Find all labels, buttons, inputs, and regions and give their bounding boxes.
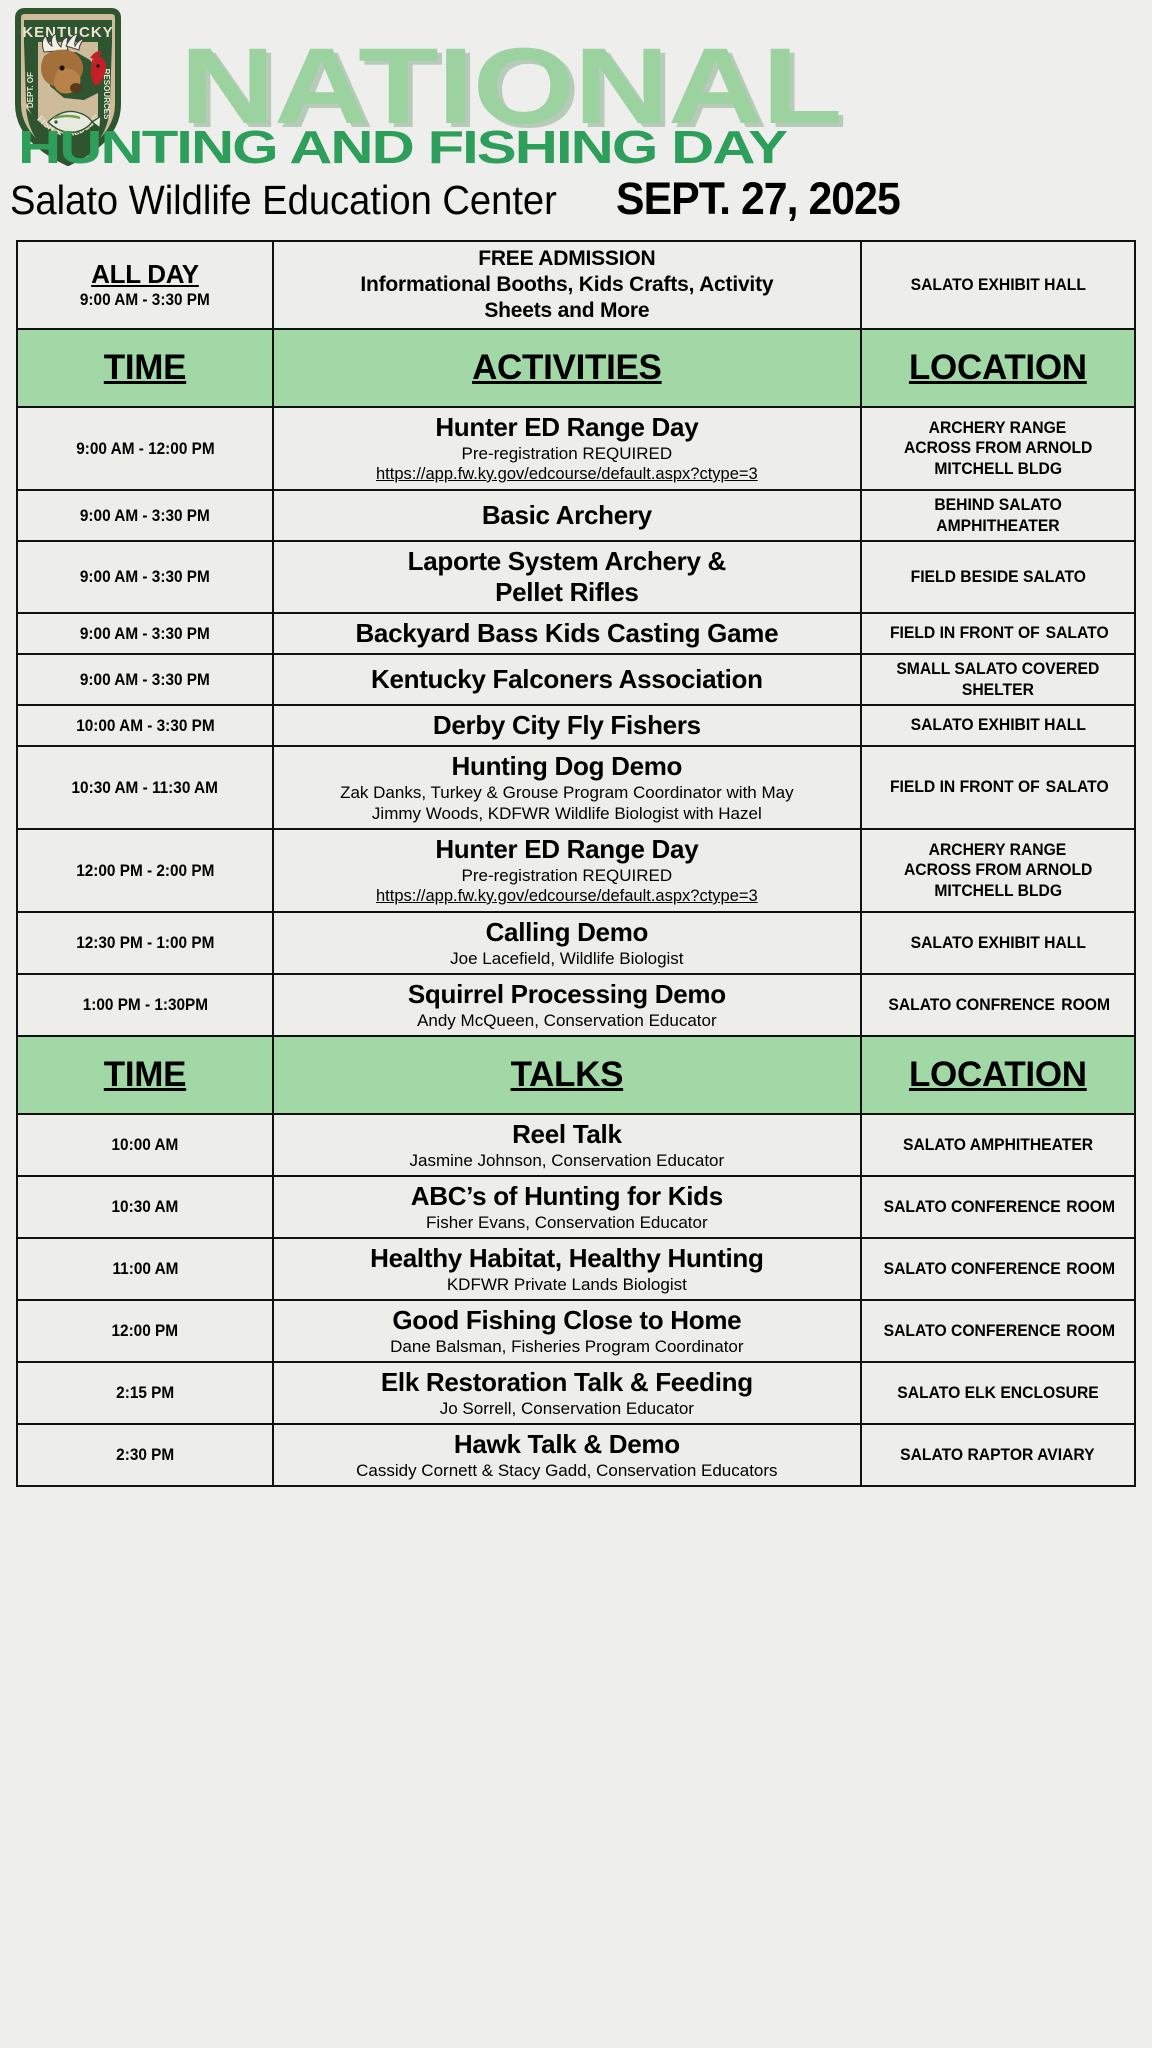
row-time-cell: 12:30 PM - 1:00 PM — [17, 912, 273, 974]
row-location-line: ROOM — [1067, 1259, 1116, 1280]
row-time-cell: 9:00 AM - 12:00 PM — [17, 407, 273, 490]
section-header-main-label: TALKS — [511, 1055, 624, 1094]
row-time: 10:00 AM — [112, 1135, 179, 1155]
row-location-line: ARCHERY RANGE — [929, 418, 1067, 439]
row-location-line: ACROSS FROM ARNOLD — [904, 860, 1092, 881]
row-location-cell: ARCHERY RANGEACROSS FROM ARNOLDMITCHELL … — [861, 407, 1135, 490]
row-time: 9:00 AM - 3:30 PM — [80, 670, 210, 690]
row-activity-cell: Reel TalkJasmine Johnson, Conservation E… — [273, 1114, 861, 1176]
schedule-row: 9:00 AM - 3:30 PMKentucky Falconers Asso… — [17, 654, 1135, 705]
row-location-cell: BEHIND SALATOAMPHITHEATER — [861, 490, 1135, 541]
row-time: 9:00 AM - 3:30 PM — [80, 624, 210, 644]
schedule-row: 9:00 AM - 3:30 PMBackyard Bass Kids Cast… — [17, 613, 1135, 654]
row-location-line: SALATO EXHIBIT HALL — [910, 715, 1085, 736]
row-time: 11:00 AM — [112, 1259, 178, 1279]
row-location-line: AMPHITHEATER — [936, 516, 1059, 537]
row-location-cell: SALATO ELK ENCLOSURE — [861, 1362, 1135, 1424]
section-header-main: ACTIVITIES — [273, 329, 861, 407]
row-time: 12:00 PM — [112, 1321, 179, 1341]
row-time-cell: 9:00 AM - 3:30 PM — [17, 613, 273, 654]
row-location-line: SALATO CONFERENCE — [884, 1321, 1061, 1342]
row-activity-presenter: Dane Balsman, Fisheries Program Coordina… — [280, 1336, 854, 1357]
row-time-cell: 9:00 AM - 3:30 PM — [17, 541, 273, 613]
row-time-cell: 2:15 PM — [17, 1362, 273, 1424]
row-registration-link[interactable]: https://app.fw.ky.gov/edcourse/default.a… — [280, 464, 854, 485]
row-activity-cell: Good Fishing Close to HomeDane Balsman, … — [273, 1300, 861, 1362]
row-activity-cell: Kentucky Falconers Association — [273, 654, 861, 705]
row-location-line: SALATO — [1045, 623, 1108, 644]
row-time-cell: 9:00 AM - 3:30 PM — [17, 490, 273, 541]
row-activity-presenter: Jo Sorrell, Conservation Educator — [280, 1398, 854, 1419]
all-day-location-cell: SALATO EXHIBIT HALL — [861, 241, 1135, 329]
row-activity-title: Hunter ED Range Day — [280, 834, 854, 865]
row-activity-title: Backyard Bass Kids Casting Game — [280, 618, 854, 649]
row-activity-cell: Elk Restoration Talk & FeedingJo Sorrell… — [273, 1362, 861, 1424]
row-location-cell: SMALL SALATO COVEREDSHELTER — [861, 654, 1135, 705]
event-date: SEPT. 27, 2025 — [616, 176, 900, 222]
row-activity-title: Elk Restoration Talk & Feeding — [280, 1367, 854, 1398]
row-activity-title: Reel Talk — [280, 1119, 854, 1150]
schedule-row: 12:30 PM - 1:00 PMCalling DemoJoe Lacefi… — [17, 912, 1135, 974]
row-location-line: FIELD IN FRONT OF — [890, 777, 1040, 798]
row-activity-title: Hunting Dog Demo — [280, 751, 854, 782]
row-time: 10:00 AM - 3:30 PM — [76, 716, 214, 736]
schedule-row: 2:15 PMElk Restoration Talk & FeedingJo … — [17, 1362, 1135, 1424]
row-location-cell: SALATO CONFERENCEROOM — [861, 1176, 1135, 1238]
schedule-row: 10:00 AM - 3:30 PMDerby City Fly Fishers… — [17, 705, 1135, 746]
row-location-cell: SALATO CONFRENCEROOM — [861, 974, 1135, 1036]
row-location-cell: FIELD BESIDE SALATO — [861, 541, 1135, 613]
flyer-header: KENTUCKY DEPT. OF RESOURCES FISH & WILDL… — [0, 0, 1152, 232]
schedule-row: 9:00 AM - 12:00 PMHunter ED Range DayPre… — [17, 407, 1135, 490]
row-location-cell: ARCHERY RANGEACROSS FROM ARNOLDMITCHELL … — [861, 829, 1135, 912]
row-time: 10:30 AM — [112, 1197, 179, 1217]
row-location-cell: SALATO AMPHITHEATER — [861, 1114, 1135, 1176]
row-location-line: BEHIND SALATO — [934, 495, 1061, 516]
schedule-table-body: ALL DAY9:00 AM - 3:30 PMFREE ADMISSIONIn… — [17, 241, 1135, 1486]
section-header-location-label: LOCATION — [909, 348, 1087, 387]
row-location-cell: FIELD IN FRONT OFSALATO — [861, 746, 1135, 829]
all-day-location: SALATO EXHIBIT HALL — [910, 275, 1085, 296]
row-activity-presenter: Joe Lacefield, Wildlife Biologist — [280, 948, 854, 969]
section-header-location-label: LOCATION — [909, 1055, 1087, 1094]
section-header-time: TIME — [17, 329, 273, 407]
all-day-row: ALL DAY9:00 AM - 3:30 PMFREE ADMISSIONIn… — [17, 241, 1135, 329]
row-time-cell: 1:00 PM - 1:30PM — [17, 974, 273, 1036]
row-location-line: ARCHERY RANGE — [929, 840, 1067, 861]
all-day-description-line: Sheets and More — [280, 298, 854, 324]
row-time: 12:30 PM - 1:00 PM — [76, 933, 214, 953]
row-location-line: ROOM — [1061, 995, 1110, 1016]
row-activity-presenter: Andy McQueen, Conservation Educator — [280, 1010, 854, 1031]
row-activity-cell: Calling DemoJoe Lacefield, Wildlife Biol… — [273, 912, 861, 974]
row-time: 10:30 AM - 11:30 AM — [72, 778, 218, 798]
row-location-line: FIELD IN FRONT OF — [890, 623, 1040, 644]
row-activity-title: Derby City Fly Fishers — [280, 710, 854, 741]
row-activity-presenter: Pre-registration REQUIRED — [280, 443, 854, 464]
schedule-row: 11:00 AMHealthy Habitat, Healthy Hunting… — [17, 1238, 1135, 1300]
section-header-location: LOCATION — [861, 1036, 1135, 1114]
row-activity-cell: Basic Archery — [273, 490, 861, 541]
row-activity-presenter: Pre-registration REQUIRED — [280, 865, 854, 886]
row-time: 9:00 AM - 3:30 PM — [80, 506, 210, 526]
row-time: 9:00 AM - 3:30 PM — [80, 567, 210, 587]
row-activity-title: Basic Archery — [280, 500, 854, 531]
row-activity-cell: Hunting Dog DemoZak Danks, Turkey & Grou… — [273, 746, 861, 829]
row-activity-presenter: Jimmy Woods, KDFWR Wildlife Biologist wi… — [280, 803, 854, 824]
row-activity-title: Calling Demo — [280, 917, 854, 948]
section-header-time-label: TIME — [104, 348, 186, 387]
row-time: 2:30 PM — [116, 1445, 174, 1465]
row-location-line: SALATO AMPHITHEATER — [903, 1135, 1093, 1156]
row-time-cell: 11:00 AM — [17, 1238, 273, 1300]
row-activity-title: Kentucky Falconers Association — [280, 664, 854, 695]
row-activity-presenter: Fisher Evans, Conservation Educator — [280, 1212, 854, 1233]
row-time-cell: 2:30 PM — [17, 1424, 273, 1486]
row-activity-title: Healthy Habitat, Healthy Hunting — [280, 1243, 854, 1274]
section-header-row: TIMEACTIVITIESLOCATION — [17, 329, 1135, 407]
row-location-line: SALATO CONFERENCE — [884, 1259, 1061, 1280]
row-location-cell: SALATO RAPTOR AVIARY — [861, 1424, 1135, 1486]
row-activity-cell: Backyard Bass Kids Casting Game — [273, 613, 861, 654]
all-day-description-line: Informational Booths, Kids Crafts, Activ… — [280, 272, 854, 298]
venue-name: Salato Wildlife Education Center — [10, 177, 557, 223]
row-location-line: SALATO ELK ENCLOSURE — [897, 1383, 1098, 1404]
schedule-row: 9:00 AM - 3:30 PMBasic ArcheryBEHIND SAL… — [17, 490, 1135, 541]
schedule-row: 2:30 PMHawk Talk & DemoCassidy Cornett &… — [17, 1424, 1135, 1486]
row-location-line: ROOM — [1067, 1197, 1116, 1218]
row-activity-presenter: Zak Danks, Turkey & Grouse Program Coord… — [280, 782, 854, 803]
row-location-cell: SALATO EXHIBIT HALL — [861, 912, 1135, 974]
row-time-cell: 12:00 PM — [17, 1300, 273, 1362]
row-location-line: SALATO RAPTOR AVIARY — [901, 1445, 1096, 1466]
flyer-page: KENTUCKY DEPT. OF RESOURCES FISH & WILDL… — [0, 0, 1152, 2048]
row-location-line: SHELTER — [962, 680, 1034, 701]
schedule-row: 10:30 AMABC’s of Hunting for KidsFisher … — [17, 1176, 1135, 1238]
row-time-cell: 9:00 AM - 3:30 PM — [17, 654, 273, 705]
row-location-cell: FIELD IN FRONT OFSALATO — [861, 613, 1135, 654]
row-location-line: ROOM — [1067, 1321, 1116, 1342]
section-header-main-label: ACTIVITIES — [472, 348, 662, 387]
venue-and-date-line: Salato Wildlife Education Center SEPT. 2… — [10, 176, 1142, 223]
row-activity-presenter: Cassidy Cornett & Stacy Gadd, Conservati… — [280, 1460, 854, 1481]
row-location-line: SALATO CONFRENCE — [889, 995, 1056, 1016]
section-header-location: LOCATION — [861, 329, 1135, 407]
row-location-line: ACROSS FROM ARNOLD — [904, 438, 1092, 459]
row-activity-cell: Hunter ED Range DayPre-registration REQU… — [273, 407, 861, 490]
row-activity-title: ABC’s of Hunting for Kids — [280, 1181, 854, 1212]
all-day-description-line: FREE ADMISSION — [280, 246, 854, 272]
row-location-line: SALATO — [1045, 777, 1108, 798]
schedule-row: 10:00 AMReel TalkJasmine Johnson, Conser… — [17, 1114, 1135, 1176]
schedule-row: 12:00 PM - 2:00 PMHunter ED Range DayPre… — [17, 829, 1135, 912]
row-activity-cell: Healthy Habitat, Healthy HuntingKDFWR Pr… — [273, 1238, 861, 1300]
schedule-table: ALL DAY9:00 AM - 3:30 PMFREE ADMISSIONIn… — [16, 240, 1136, 1487]
row-activity-title: Squirrel Processing Demo — [280, 979, 854, 1010]
svg-text:DEPT. OF: DEPT. OF — [26, 72, 35, 108]
row-activity-title: Hawk Talk & Demo — [280, 1429, 854, 1460]
row-location-cell: SALATO CONFERENCEROOM — [861, 1238, 1135, 1300]
schedule-row: 1:00 PM - 1:30PMSquirrel Processing Demo… — [17, 974, 1135, 1036]
schedule-row: 12:00 PMGood Fishing Close to HomeDane B… — [17, 1300, 1135, 1362]
row-activity-cell: ABC’s of Hunting for KidsFisher Evans, C… — [273, 1176, 861, 1238]
row-activity-title: Pellet Rifles — [280, 577, 854, 608]
row-activity-cell: Hawk Talk & DemoCassidy Cornett & Stacy … — [273, 1424, 861, 1486]
row-activity-presenter: Jasmine Johnson, Conservation Educator — [280, 1150, 854, 1171]
title-hunting-and-fishing-day: HUNTING AND FISHING DAY — [18, 124, 786, 170]
row-location-line: MITCHELL BLDG — [934, 459, 1062, 480]
row-time: 12:00 PM - 2:00 PM — [76, 861, 214, 881]
schedule-row: 9:00 AM - 3:30 PMLaporte System Archery … — [17, 541, 1135, 613]
row-activity-title: Laporte System Archery & — [280, 546, 854, 577]
section-header-row: TIMETALKSLOCATION — [17, 1036, 1135, 1114]
row-location-line: SALATO EXHIBIT HALL — [910, 933, 1085, 954]
row-location-line: SMALL SALATO COVERED — [896, 659, 1099, 680]
row-activity-title: Hunter ED Range Day — [280, 412, 854, 443]
row-registration-link[interactable]: https://app.fw.ky.gov/edcourse/default.a… — [280, 886, 854, 907]
row-location-line: MITCHELL BLDG — [934, 881, 1062, 902]
row-activity-cell: Derby City Fly Fishers — [273, 705, 861, 746]
row-location-cell: SALATO CONFERENCEROOM — [861, 1300, 1135, 1362]
all-day-time-cell: ALL DAY9:00 AM - 3:30 PM — [17, 241, 273, 329]
section-header-time-label: TIME — [104, 1055, 186, 1094]
row-location-line: SALATO CONFERENCE — [884, 1197, 1061, 1218]
row-activity-cell: Laporte System Archery &Pellet Rifles — [273, 541, 861, 613]
row-time: 1:00 PM - 1:30PM — [82, 995, 207, 1015]
schedule-row: 10:30 AM - 11:30 AMHunting Dog DemoZak D… — [17, 746, 1135, 829]
row-location-cell: SALATO EXHIBIT HALL — [861, 705, 1135, 746]
row-time: 2:15 PM — [116, 1383, 174, 1403]
row-time-cell: 10:30 AM — [17, 1176, 273, 1238]
all-day-label: ALL DAY — [24, 259, 266, 289]
row-time: 9:00 AM - 12:00 PM — [76, 439, 214, 459]
row-activity-cell: Squirrel Processing DemoAndy McQueen, Co… — [273, 974, 861, 1036]
section-header-time: TIME — [17, 1036, 273, 1114]
row-activity-cell: Hunter ED Range DayPre-registration REQU… — [273, 829, 861, 912]
row-activity-title: Good Fishing Close to Home — [280, 1305, 854, 1336]
all-day-time: 9:00 AM - 3:30 PM — [80, 289, 210, 311]
row-time-cell: 12:00 PM - 2:00 PM — [17, 829, 273, 912]
row-activity-presenter: KDFWR Private Lands Biologist — [280, 1274, 854, 1295]
row-time-cell: 10:00 AM — [17, 1114, 273, 1176]
all-day-description-cell: FREE ADMISSIONInformational Booths, Kids… — [273, 241, 861, 329]
row-time-cell: 10:00 AM - 3:30 PM — [17, 705, 273, 746]
section-header-main: TALKS — [273, 1036, 861, 1114]
row-location-line: FIELD BESIDE SALATO — [910, 567, 1085, 588]
row-time-cell: 10:30 AM - 11:30 AM — [17, 746, 273, 829]
